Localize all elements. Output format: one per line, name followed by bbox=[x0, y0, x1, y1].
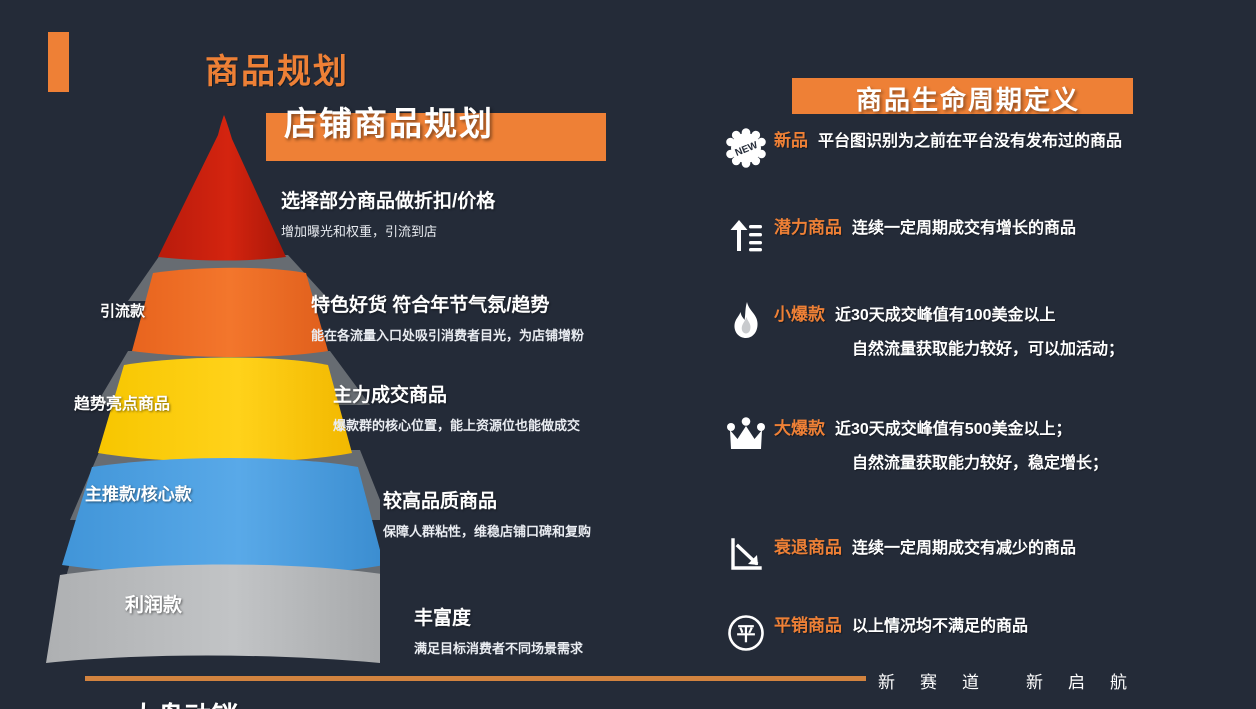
pyramid-desc-title-0: 选择部分商品做折扣/价格 bbox=[281, 186, 495, 213]
flat-circle-icon: 平 bbox=[718, 607, 774, 659]
lifecycle-body: 衰退商品 连续一定周期成交有减少的商品 bbox=[774, 529, 1076, 558]
flame-icon bbox=[718, 296, 774, 348]
svg-text:平: 平 bbox=[736, 624, 755, 645]
lifecycle-name-1: 潜力商品 bbox=[774, 213, 842, 238]
crown-icon bbox=[718, 410, 774, 462]
lifecycle-text-2: 近30天成交峰值有100美金以上 bbox=[835, 301, 1056, 325]
pyramid-desc-2: 主力成交商品 爆款群的核心位置，能上资源位也能做成交 bbox=[333, 380, 580, 434]
footer-word-3: 道 bbox=[962, 673, 980, 692]
pyramid-desc-3: 较高品质商品 保障人群粘性，维稳店铺口碑和复购 bbox=[383, 486, 591, 540]
pyramid-desc-1: 特色好货 符合年节气氛/趋势 能在各流量入口处吸引消费者目光，为店铺增粉 bbox=[311, 290, 584, 344]
pyramid-label-4: 大盘动销 bbox=[130, 695, 238, 709]
pyramid-level-1 bbox=[132, 268, 328, 357]
page-title: 商品规划 bbox=[205, 44, 349, 93]
trending-down-icon bbox=[718, 529, 774, 581]
lifecycle-text-3: 近30天成交峰值有500美金以上； bbox=[835, 415, 1072, 439]
slide-canvas: 商品规划 店铺商品规划 bbox=[0, 0, 1256, 709]
lifecycle-item-declining: 衰退商品 连续一定周期成交有减少的商品 bbox=[718, 529, 1076, 581]
lifecycle-item-new: NEW 新品 平台图识别为之前在平台没有发布过的商品 bbox=[718, 122, 1122, 174]
pyramid-level-2 bbox=[98, 358, 352, 463]
lifecycle-body: 小爆款 近30天成交峰值有100美金以上 自然流量获取能力较好，可以加活动； bbox=[774, 296, 1124, 359]
pyramid-desc-title-3: 较高品质商品 bbox=[383, 486, 591, 513]
footer-word-5: 启 bbox=[1068, 673, 1086, 692]
pyramid-desc-sub-0: 增加曝光和权重，引流到店 bbox=[281, 221, 495, 240]
pyramid-desc-sub-2: 爆款群的核心位置，能上资源位也能做成交 bbox=[333, 415, 580, 434]
footer-word-4: 新 bbox=[1026, 673, 1044, 692]
lifecycle-text-5: 以上情况均不满足的商品 bbox=[852, 612, 1028, 636]
pyramid-desc-title-4: 丰富度 bbox=[414, 603, 583, 630]
lifecycle-text-4: 连续一定周期成交有减少的商品 bbox=[852, 534, 1076, 558]
lifecycle-body: 大爆款 近30天成交峰值有500美金以上； 自然流量获取能力较好，稳定增长； bbox=[774, 410, 1108, 473]
lifecycle-title: 商品生命周期定义 bbox=[856, 80, 1080, 117]
lifecycle-name-4: 衰退商品 bbox=[774, 533, 842, 558]
pyramid-level-0 bbox=[158, 115, 286, 261]
lifecycle-name-0: 新品 bbox=[774, 126, 808, 151]
new-badge-icon: NEW bbox=[718, 122, 774, 174]
lifecycle-text2-2: 自然流量获取能力较好，可以加活动； bbox=[852, 335, 1124, 359]
pyramid-level-3 bbox=[62, 458, 380, 576]
pyramid-level-4 bbox=[46, 565, 380, 664]
footer-word-1: 新 bbox=[878, 673, 896, 692]
lifecycle-item-small-hit: 小爆款 近30天成交峰值有100美金以上 自然流量获取能力较好，可以加活动； bbox=[718, 296, 1124, 359]
pyramid-desc-sub-3: 保障人群粘性，维稳店铺口碑和复购 bbox=[383, 521, 591, 540]
pyramid-desc-0: 选择部分商品做折扣/价格 增加曝光和权重，引流到店 bbox=[281, 186, 495, 240]
lifecycle-body: 新品 平台图识别为之前在平台没有发布过的商品 bbox=[774, 122, 1122, 151]
footer-word-6: 航 bbox=[1110, 673, 1128, 692]
lifecycle-name-3: 大爆款 bbox=[774, 414, 825, 439]
trending-up-icon bbox=[718, 209, 774, 261]
lifecycle-item-flat: 平 平销商品 以上情况均不满足的商品 bbox=[718, 607, 1028, 659]
lifecycle-text-1: 连续一定周期成交有增长的商品 bbox=[852, 214, 1076, 238]
pyramid-desc-title-2: 主力成交商品 bbox=[333, 380, 580, 407]
footer-word-2: 赛 bbox=[920, 673, 938, 692]
lifecycle-body: 平销商品 以上情况均不满足的商品 bbox=[774, 607, 1028, 636]
accent-bar bbox=[48, 32, 69, 92]
footer-divider bbox=[85, 676, 866, 681]
lifecycle-body: 潜力商品 连续一定周期成交有增长的商品 bbox=[774, 209, 1076, 238]
lifecycle-text-0: 平台图识别为之前在平台没有发布过的商品 bbox=[818, 127, 1122, 151]
pyramid-desc-4: 丰富度 满足目标消费者不同场景需求 bbox=[414, 603, 583, 657]
pyramid-desc-sub-4: 满足目标消费者不同场景需求 bbox=[414, 638, 583, 657]
pyramid-desc-sub-1: 能在各流量入口处吸引消费者目光，为店铺增粉 bbox=[311, 325, 584, 344]
lifecycle-item-big-hit: 大爆款 近30天成交峰值有500美金以上； 自然流量获取能力较好，稳定增长； bbox=[718, 410, 1108, 473]
footer-slogan: 新赛道新启航 bbox=[878, 668, 1128, 693]
lifecycle-name-5: 平销商品 bbox=[774, 611, 842, 636]
lifecycle-item-potential: 潜力商品 连续一定周期成交有增长的商品 bbox=[718, 209, 1076, 261]
pyramid-desc-title-1: 特色好货 符合年节气氛/趋势 bbox=[311, 290, 584, 317]
lifecycle-text2-3: 自然流量获取能力较好，稳定增长； bbox=[852, 449, 1108, 473]
lifecycle-name-2: 小爆款 bbox=[774, 300, 825, 325]
